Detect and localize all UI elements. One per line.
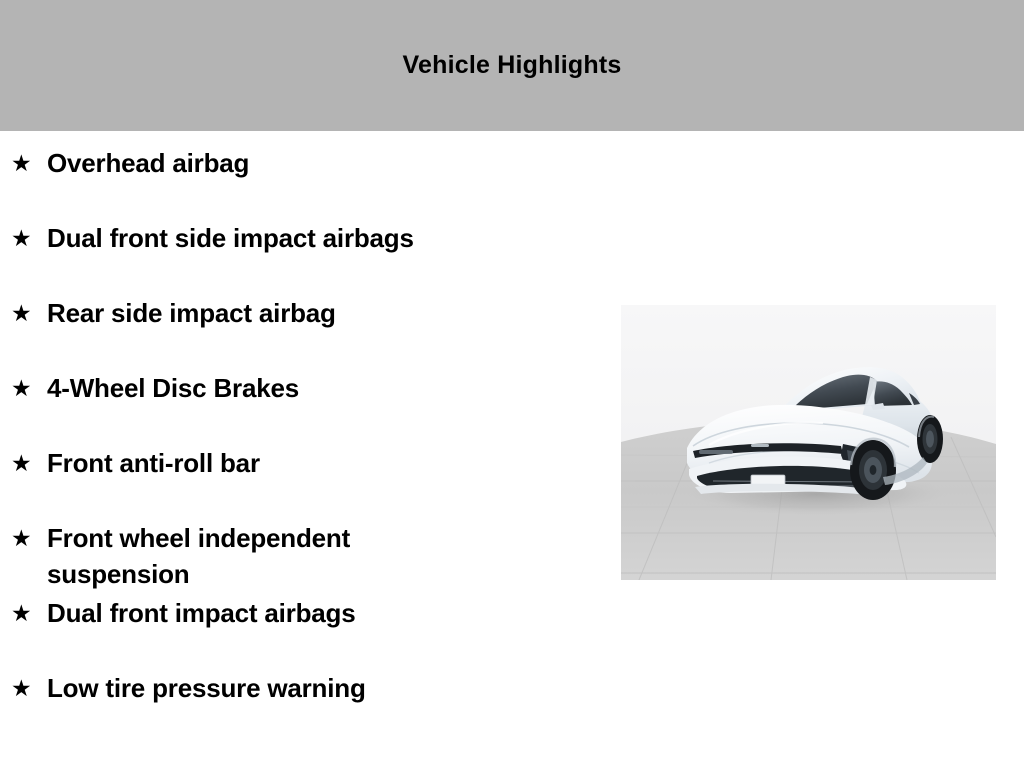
highlight-label: Dual front impact airbags [47,593,560,631]
vehicle-photo [621,305,996,580]
highlight-label: Overhead airbag [47,143,560,181]
star-bullet-icon: ★ [11,376,35,402]
vehicle-photo-image [621,305,996,580]
list-item: ★ Front anti-roll bar [0,443,560,518]
page-title: Vehicle Highlights [403,53,622,78]
star-bullet-icon: ★ [11,301,35,327]
highlight-label: Front wheel independent suspension [47,518,560,592]
highlight-label: Rear side impact airbag [47,293,560,331]
list-item: ★ Dual front impact airbags [0,593,560,668]
highlight-label: Low tire pressure warning [47,668,560,706]
highlight-label: Front anti-roll bar [47,443,560,481]
star-bullet-icon: ★ [11,601,35,627]
star-bullet-icon: ★ [11,451,35,477]
star-bullet-icon: ★ [11,676,35,702]
header-band: Vehicle Highlights [0,0,1024,131]
star-bullet-icon: ★ [11,226,35,252]
list-item: ★ Dual front side impact airbags [0,218,560,293]
highlight-label: 4-Wheel Disc Brakes [47,368,560,406]
list-item: ★ 4-Wheel Disc Brakes [0,368,560,443]
list-item: ★ Rear side impact airbag [0,293,560,368]
highlight-label: Dual front side impact airbags [47,218,560,256]
star-bullet-icon: ★ [11,526,35,552]
vehicle-highlights-list: ★ Overhead airbag ★ Dual front side impa… [0,143,560,743]
list-item: ★ Front wheel independent suspension [0,518,560,593]
list-item: ★ Overhead airbag [0,143,560,218]
star-bullet-icon: ★ [11,151,35,177]
list-item: ★ Low tire pressure warning [0,668,560,743]
